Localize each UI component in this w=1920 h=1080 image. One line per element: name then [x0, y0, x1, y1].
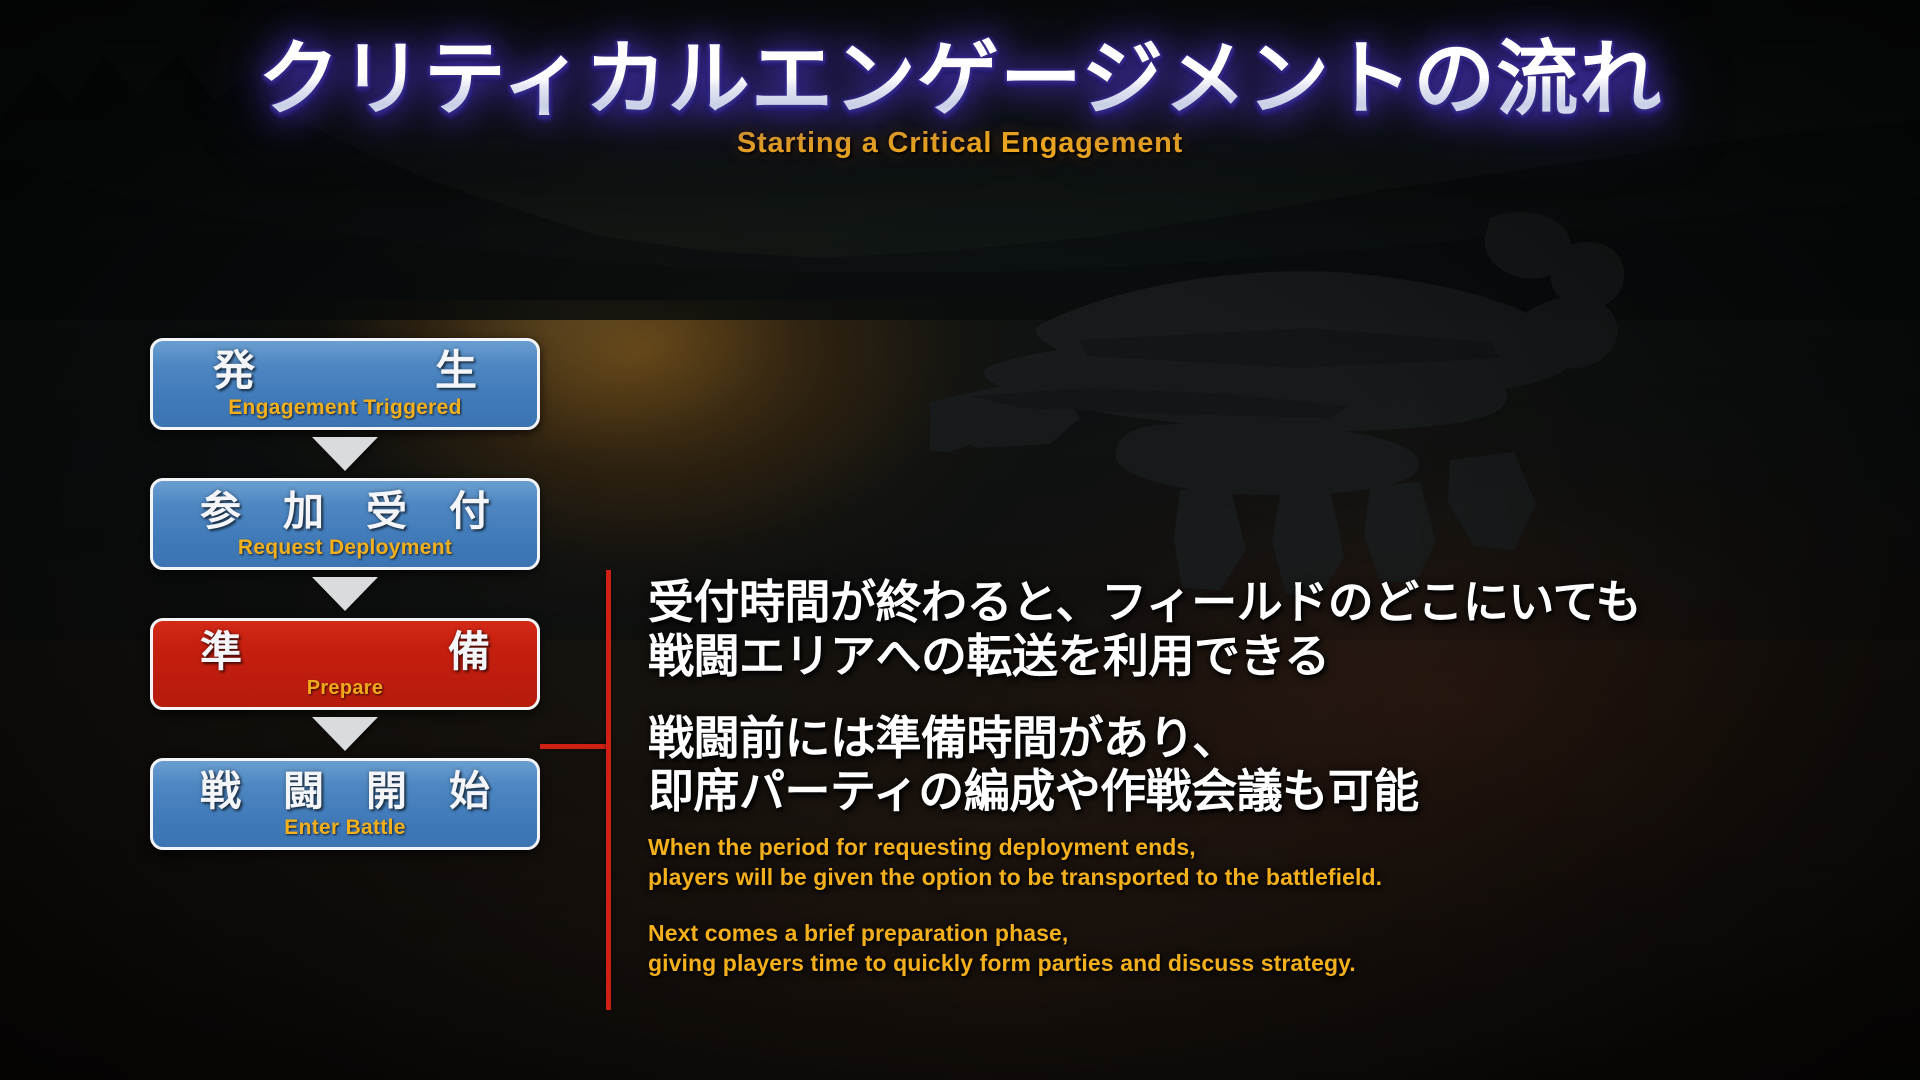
slide-root: クリティカルエンゲージメントの流れ Starting a Critical En… [0, 0, 1920, 1080]
flow-node-jp-char: 開 [366, 771, 407, 812]
page-title-en: Starting a Critical Engagement [0, 127, 1920, 160]
flow-node-jp-char: 生 [435, 350, 477, 392]
flow-node-jp-char: 参 [200, 491, 241, 532]
flow-chart: 発 生 Engagement Triggered 参 加 受 付 Request… [150, 338, 546, 850]
detail-jp-line: 即席パーティの編成や作戦会議も可能 [648, 765, 1878, 819]
arrow-down-triangle-icon [312, 717, 378, 751]
flow-node-engagement-triggered[interactable]: 発 生 Engagement Triggered [150, 338, 540, 430]
flow-node-prepare[interactable]: 準 備 Prepare [150, 618, 540, 710]
flow-node-jp-char: 備 [448, 631, 490, 673]
connector-vertical-bar [606, 570, 611, 1010]
detail-en-paragraph-2: Next comes a brief preparation phase, gi… [648, 919, 1878, 979]
flow-node-jp-char: 発 [213, 350, 255, 392]
flow-node-en-label: Request Deployment [238, 536, 452, 560]
detail-jp-paragraph-2: 戦闘前には準備時間があり、 即席パーティの編成や作戦会議も可能 [648, 712, 1878, 820]
title-block: クリティカルエンゲージメントの流れ Starting a Critical En… [0, 36, 1920, 160]
flow-node-jp-char: 闘 [283, 771, 324, 812]
detail-jp-paragraph-1: 受付時間が終わると、フィールドのどこにいても 戦闘エリアへの転送を利用できる [648, 576, 1878, 684]
detail-en-line: players will be given the option to be t… [648, 863, 1878, 893]
flow-arrow-2 [150, 570, 540, 618]
flow-node-jp-label: 発 生 [213, 350, 477, 392]
flow-node-en-label: Engagement Triggered [228, 396, 462, 420]
flow-arrow-3 [150, 710, 540, 758]
flow-node-jp-label: 戦 闘 開 始 [200, 771, 490, 812]
flow-node-jp-char: 始 [449, 771, 490, 812]
flow-node-jp-char: 受 [366, 491, 407, 532]
flow-node-request-deployment[interactable]: 参 加 受 付 Request Deployment [150, 478, 540, 570]
page-title-jp: クリティカルエンゲージメントの流れ [0, 36, 1920, 125]
flow-arrow-1 [150, 430, 540, 478]
arrow-down-triangle-icon [312, 437, 378, 471]
detail-en-line: When the period for requesting deploymen… [648, 833, 1878, 863]
detail-en-line: Next comes a brief preparation phase, [648, 919, 1878, 949]
flow-node-jp-char: 準 [200, 631, 242, 673]
detail-en-paragraph-1: When the period for requesting deploymen… [648, 833, 1878, 893]
flow-node-jp-char: 加 [283, 491, 324, 532]
flow-node-enter-battle[interactable]: 戦 闘 開 始 Enter Battle [150, 758, 540, 850]
arrow-down-triangle-icon [312, 577, 378, 611]
flow-node-jp-char: 戦 [200, 771, 241, 812]
detail-jp-line: 戦闘エリアへの転送を利用できる [648, 630, 1878, 684]
flow-node-en-label: Prepare [307, 677, 384, 700]
detail-panel: 受付時間が終わると、フィールドのどこにいても 戦闘エリアへの転送を利用できる 戦… [648, 576, 1878, 979]
connector-horizontal-stub [540, 744, 611, 749]
flow-node-en-label: Enter Battle [284, 816, 405, 840]
detail-jp-line: 戦闘前には準備時間があり、 [648, 712, 1878, 766]
detail-en-line: giving players time to quickly form part… [648, 949, 1878, 979]
detail-jp-line: 受付時間が終わると、フィールドのどこにいても [648, 576, 1878, 630]
flow-node-jp-char: 付 [449, 491, 490, 532]
flow-node-jp-label: 準 備 [200, 631, 490, 673]
background-mech-silhouette [930, 190, 1630, 620]
flow-node-jp-label: 参 加 受 付 [200, 491, 490, 532]
